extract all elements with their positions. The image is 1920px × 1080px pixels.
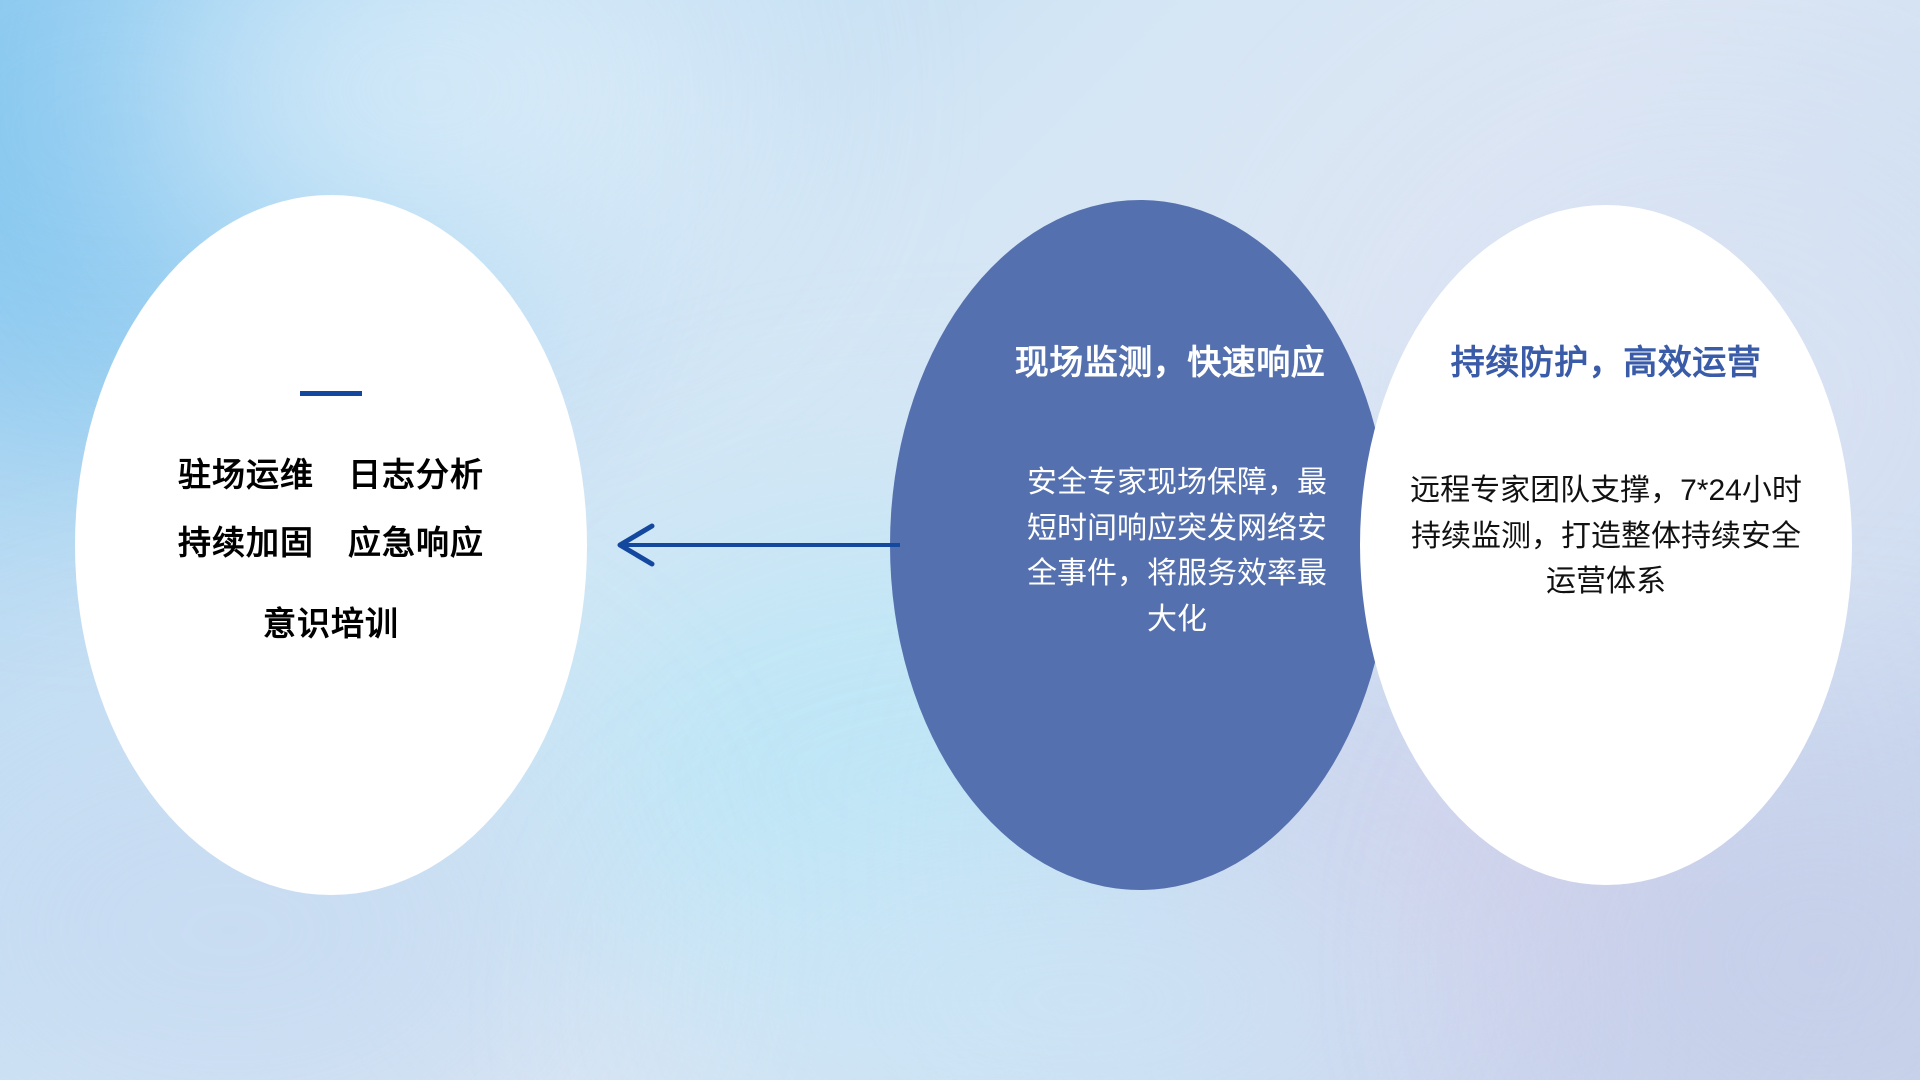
- capabilities-circle-content: 驻场运维 日志分析 持续加固 应急响应 意识培训: [75, 195, 587, 895]
- continuous-protection-body: 远程专家团队支撑，7*24小时持续监测，打造整体持续安全运营体系: [1406, 468, 1806, 605]
- capability-line-3: 意识培训: [263, 607, 399, 642]
- continuous-protection-circle-content: 持续防护，高效运营 远程专家团队支撑，7*24小时持续监测，打造整体持续安全运营…: [1360, 205, 1852, 885]
- capability-line-1: 驻场运维 日志分析: [178, 458, 484, 493]
- onsite-monitoring-title: 现场监测，快速响应: [1015, 335, 1326, 384]
- blue-divider-dash: [300, 391, 362, 396]
- onsite-monitoring-circle-content: 现场监测，快速响应 安全专家现场保障，最短时间响应突发网络安全事件，将服务效率最…: [890, 200, 1390, 890]
- onsite-monitoring-body: 安全专家现场保障，最短时间响应突发网络安全事件，将服务效率最大化: [1027, 460, 1327, 642]
- left-arrow-icon: [600, 520, 900, 570]
- capability-line-2: 持续加固 应急响应: [178, 526, 484, 561]
- slide-canvas: 驻场运维 日志分析 持续加固 应急响应 意识培训 现场监测，快速响应 安全专家现…: [0, 0, 1920, 1080]
- continuous-protection-title: 持续防护，高效运营: [1451, 335, 1762, 384]
